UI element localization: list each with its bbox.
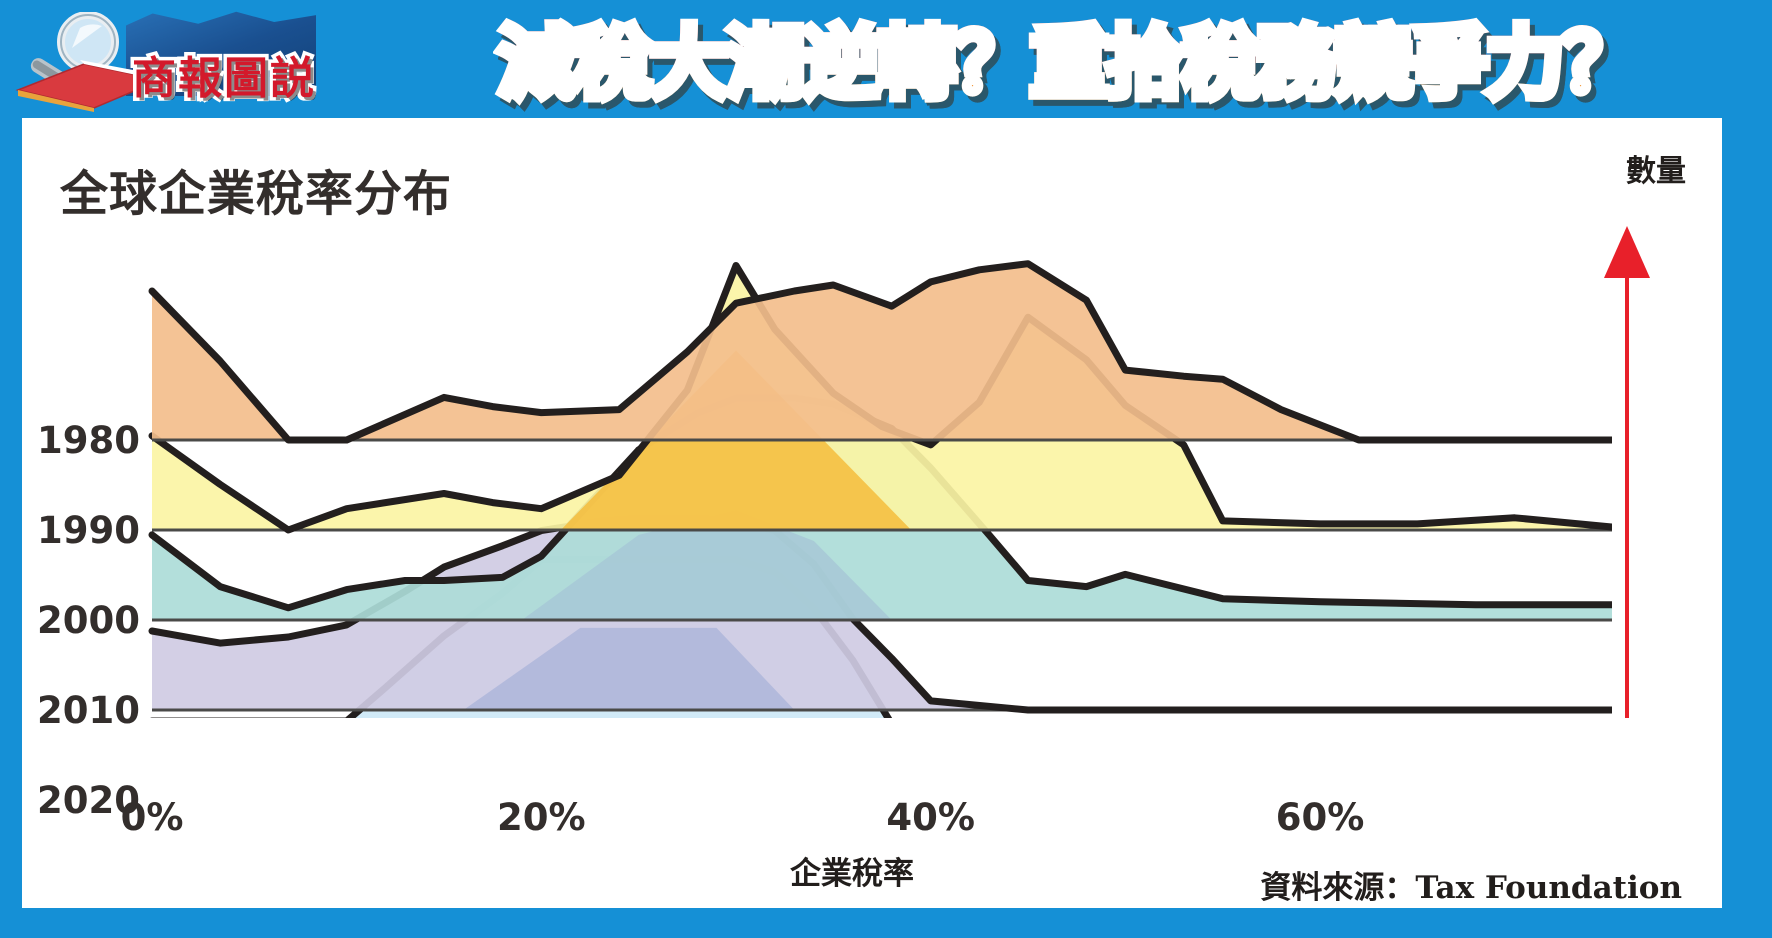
quantity-arrow-icon [1604, 226, 1650, 718]
source-note: 資料來源：Tax Foundation [1260, 870, 1682, 906]
x-axis-tick-40pct: 40% [886, 796, 975, 839]
headline: 減稅大潮逆轉？重拾稅務競爭力？ [372, 18, 1764, 110]
y-axis-label-2010: 2010 [37, 689, 140, 732]
brand-logo: 商報圖説 [8, 4, 368, 116]
x-axis-tick-0pct: 0% [121, 796, 184, 839]
header-banner: 商報圖説 減稅大潮逆轉？重拾稅務競爭力？ [0, 0, 1772, 118]
y-axis-label-1990: 1990 [37, 509, 140, 552]
y-axis-label-1980: 1980 [37, 419, 140, 462]
y-axis-label-2000: 2000 [37, 599, 140, 642]
x-axis-tick-60pct: 60% [1276, 796, 1365, 839]
x-axis-title: 企業稅率 [790, 856, 914, 892]
chart-panel: 全球企業稅率分布 數量 198019902000201020200%20%40%… [22, 118, 1722, 908]
ridgeline-chart: 198019902000201020200%20%40%60% 企業稅率 資料來… [22, 118, 1722, 908]
headline-text: 減稅大潮逆轉？重拾稅務競爭力？ [498, 19, 1638, 109]
brand-logo-label: 商報圖説 [132, 42, 316, 106]
ridge-row-1980 [152, 264, 1612, 440]
ridge-area [152, 264, 1612, 440]
ridge-series-group [152, 264, 1612, 800]
x-axis-tick-20pct: 20% [497, 796, 586, 839]
